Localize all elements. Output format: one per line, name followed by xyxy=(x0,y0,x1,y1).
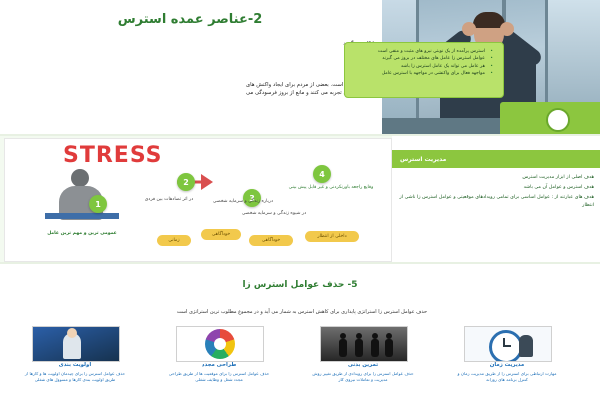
right-text-3: هدف های عبارتند از : عوامل اساسی برای تم… xyxy=(398,194,594,210)
pill-2: خودآگاهی xyxy=(201,229,241,240)
card-2-body: حذف عوامل استرس زا برای موقعیت ها از طری… xyxy=(166,371,272,384)
runner-4 xyxy=(385,339,393,357)
clock-person xyxy=(519,335,533,357)
presentation-page: 2-عناصر عمده استرس افراد واکنش در برابر … xyxy=(0,0,600,400)
time-management-icon xyxy=(464,326,552,362)
slide-2-heading: مدیریت استرس xyxy=(392,150,600,168)
pill-1: زمانی xyxy=(157,235,191,246)
bubble-label-3: در شیوه زندگی و سرمایه شخصی xyxy=(231,211,317,218)
card-3-body: حذف عوامل استرس زا برای رویدادی از طریق … xyxy=(310,371,416,384)
slide-1-circle-badge xyxy=(546,108,570,132)
slide-1-callout-box: استرس پرآمده از یک نوبتی نیرو های مثبت و… xyxy=(344,42,504,98)
stressed-worker-illustration xyxy=(45,169,119,221)
worker-desk xyxy=(45,213,119,219)
slide-3-title: 5- حذف عوامل استرس زا xyxy=(190,280,410,290)
card-4-title: مدیریت زمان xyxy=(448,362,566,368)
slide-1: 2-عناصر عمده استرس افراد واکنش در برابر … xyxy=(0,0,600,134)
card-4: مدیریت زمان مهارت ارتباطی برای استرس زا … xyxy=(448,326,566,398)
card-1-body: حذف عوامل استرس زا برای چیدمان اولویت ها… xyxy=(22,371,128,384)
pie-slices xyxy=(205,329,235,359)
running-people-icon xyxy=(320,326,408,362)
slide-1-title: 2-عناصر عمده استرس xyxy=(80,12,300,27)
bubble-label-4: وقایع راجعه باورنکردنی و غیر قابل پیش بی… xyxy=(279,185,383,192)
right-text-1: هدف اصلی از ابزار مدیریت استرس xyxy=(398,174,594,182)
pie-chart-icon xyxy=(176,326,264,362)
bottom-note: عمومی ترین و مهم ترین عامل xyxy=(27,231,137,238)
photo-person-head xyxy=(67,328,77,338)
card-3: تمرین بدنی حذف عوامل استرس زا برای رویدا… xyxy=(304,326,422,398)
stress-word: STRESS xyxy=(63,143,163,168)
card-2-title: طراحی مجدد xyxy=(160,362,278,368)
callout-list: استرس پرآمده از یک نوبتی نیرو های مثبت و… xyxy=(352,48,496,77)
slide-2: STRESS 1 2 3 4 در اثر تضادهات بین فردی د… xyxy=(0,136,600,262)
slide-3: 5- حذف عوامل استرس زا حذف عوامل استرس زا… xyxy=(0,264,600,400)
slide-3-subtitle: حذف عوامل استرس زا استراتژی پایداری برای… xyxy=(92,308,512,316)
callout-item-1: استرس پرآمده از یک نوبتی نیرو های مثبت و… xyxy=(352,48,485,55)
run-bg xyxy=(321,327,407,361)
card-1-title: اولویت بندی xyxy=(16,362,134,368)
card-3-title: تمرین بدنی xyxy=(304,362,422,368)
slide-2-right-text: هدف اصلی از ابزار مدیریت استرس هدف استرس… xyxy=(398,174,594,213)
runner-1 xyxy=(339,339,347,357)
bubble-4[interactable]: 4 xyxy=(313,165,331,183)
bubble-1[interactable]: 1 xyxy=(89,195,107,213)
runner-3 xyxy=(371,339,379,357)
hand-right xyxy=(500,22,514,36)
right-text-2: هدف استرس و عوامل آن می باشد xyxy=(398,184,594,192)
bubble-2[interactable]: 2 xyxy=(177,173,195,191)
bubble-label-2: درباره زندگی و سرمایه شخصی xyxy=(201,199,285,206)
clock-face-icon xyxy=(489,330,523,362)
card-1: اولویت بندی حذف عوامل استرس زا برای چیدم… xyxy=(16,326,134,398)
callout-item-2: عوامل استرس زا عامل های مختلف در بروز می… xyxy=(352,55,485,62)
callout-item-3: هر عامل می تواند یک عامل استرس زا باشد xyxy=(352,63,485,70)
card-2: طراحی مجدد حذف عوامل استرس زا برای موقعی… xyxy=(160,326,278,398)
pill-4: داخلی از انتظار xyxy=(305,231,359,242)
pill-3: خودآگاهی xyxy=(249,235,293,246)
slide-2-diagram: STRESS 1 2 3 4 در اثر تضادهات بین فردی د… xyxy=(4,138,392,262)
slide-2-right-panel: مدیریت استرس هدف اصلی از ابزار مدیریت اس… xyxy=(392,136,600,262)
callout-item-4: مواجهه فعال برای واکنشی در مواجهه با است… xyxy=(352,70,485,77)
hand-left xyxy=(462,22,476,36)
worker-head xyxy=(71,169,89,187)
employee-photo-icon xyxy=(32,326,120,362)
card-4-body: مهارت ارتباطی برای استرس زا از طریق مدیر… xyxy=(454,371,560,384)
runner-2 xyxy=(355,339,363,357)
